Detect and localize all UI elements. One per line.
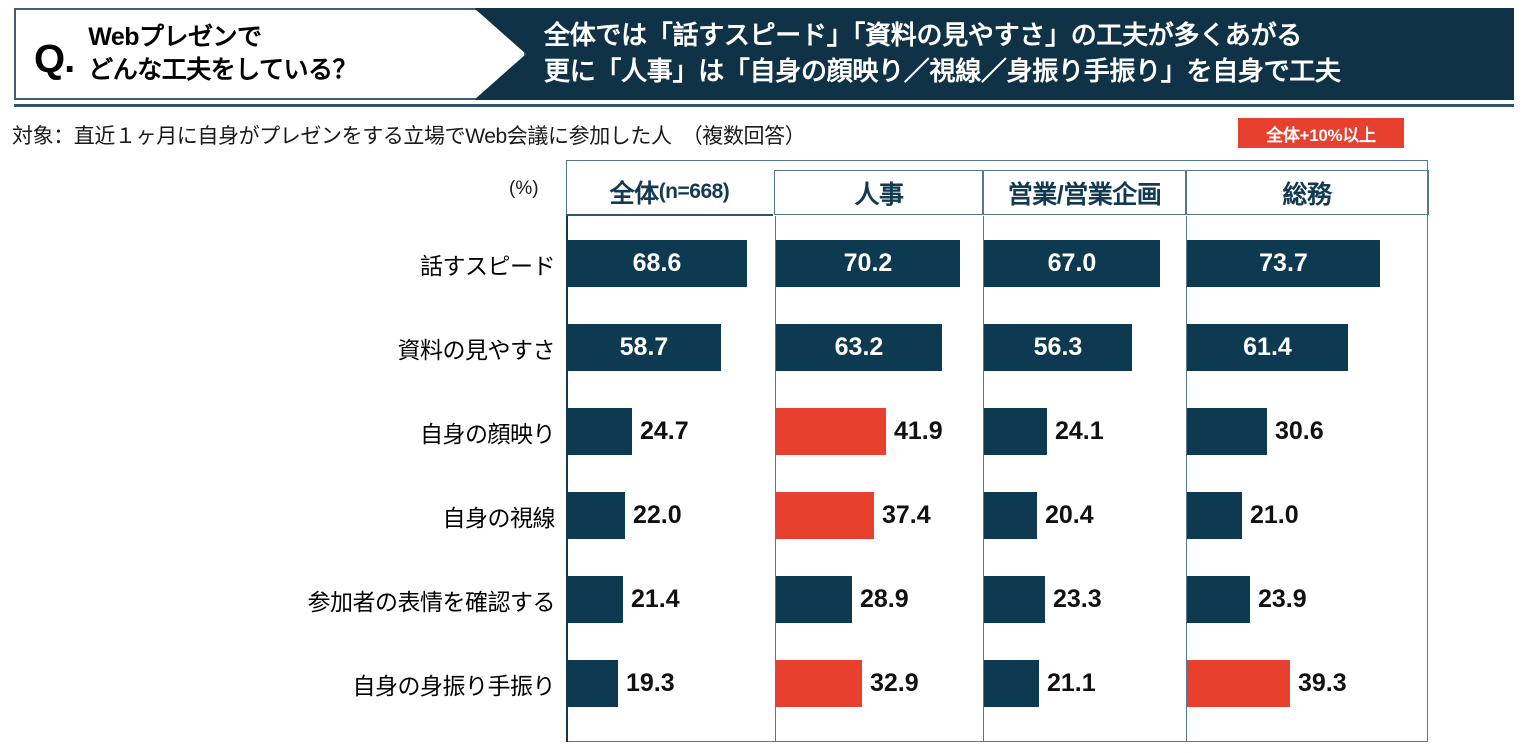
bar-value-1-1: 68.6	[567, 240, 747, 287]
category-label: 自身の視線	[443, 492, 556, 539]
bar-value-3-4: 20.4	[1045, 492, 1094, 539]
question-mark-label: Q.	[34, 39, 74, 79]
bar-chart: 全体 (n=668)人事営業/営業企画総務68.670.267.073.758.…	[566, 160, 1428, 742]
column-header-name: 全体	[610, 174, 659, 210]
bar-1-3	[567, 408, 632, 455]
column-header-1: 全体 (n=668)	[566, 168, 773, 215]
category-label: 資料の見やすさ	[398, 324, 556, 371]
header-banner: 全体では「話すスピード」「資料の見やすさ」の工夫が多くあがる 更に「人事」は「自…	[14, 8, 1514, 100]
bar-1-5	[567, 576, 623, 623]
bar-3-3	[984, 408, 1047, 455]
bar-value-3-5: 23.3	[1053, 576, 1102, 623]
survey-target-note: 対象：直近１ヶ月に自身がプレゼンをする立場でWeb会議に参加した人 （複数回答）	[12, 120, 805, 150]
bar-4-6	[1187, 660, 1290, 707]
question-line-2: どんな工夫をしている？	[88, 54, 357, 87]
bar-1-4	[567, 492, 625, 539]
bar-value-1-6: 19.3	[626, 660, 675, 707]
bar-4-5	[1187, 576, 1250, 623]
column-header-name: 総務	[1282, 175, 1331, 211]
legend-badge-highlight: 全体+10%以上	[1238, 118, 1404, 148]
column-header-3: 営業/営業企画	[982, 170, 1187, 215]
bar-value-2-3: 41.9	[894, 408, 943, 455]
bar-value-2-4: 37.4	[882, 492, 931, 539]
column-header-4: 総務	[1185, 170, 1429, 215]
bar-value-4-4: 21.0	[1250, 492, 1299, 539]
bar-value-1-5: 21.4	[631, 576, 680, 623]
bar-value-2-1: 70.2	[776, 240, 960, 287]
column-header-name: 営業/営業企画	[1008, 175, 1161, 211]
bar-value-3-1: 67.0	[984, 240, 1160, 287]
category-label: 自身の身振り手振り	[353, 660, 556, 707]
bar-value-3-3: 24.1	[1055, 408, 1104, 455]
header-divider	[14, 104, 1514, 107]
question-line-1: Webプレゼンで	[88, 21, 357, 54]
bar-value-4-5: 23.9	[1258, 576, 1307, 623]
category-label-column: 話すスピード資料の見やすさ自身の顔映り自身の視線参加者の表情を確認する自身の身振…	[0, 160, 556, 742]
category-label: 話すスピード	[420, 240, 555, 287]
bar-1-6	[567, 660, 618, 707]
overall-header-underline	[566, 214, 773, 216]
bar-2-5	[776, 576, 852, 623]
bar-value-4-1: 73.7	[1187, 240, 1380, 287]
bar-value-4-6: 39.3	[1298, 660, 1347, 707]
bar-4-4	[1187, 492, 1242, 539]
bar-3-5	[984, 576, 1045, 623]
bar-3-4	[984, 492, 1037, 539]
bar-value-1-2: 58.7	[567, 324, 721, 371]
bar-2-3	[776, 408, 886, 455]
bar-value-4-2: 61.4	[1187, 324, 1348, 371]
header-message-line1: 全体では「話すスピード」「資料の見やすさ」の工夫が多くあがる	[544, 18, 1504, 54]
bar-value-4-3: 30.6	[1275, 408, 1324, 455]
bar-2-6	[776, 660, 862, 707]
category-label: 参加者の表情を確認する	[308, 576, 556, 623]
category-label: 自身の顔映り	[420, 408, 555, 455]
column-header-name: 人事	[854, 175, 903, 211]
column-header-2: 人事	[774, 170, 984, 215]
bar-value-3-2: 56.3	[984, 324, 1132, 371]
bar-value-1-4: 22.0	[633, 492, 682, 539]
question-text: Webプレゼンで どんな工夫をしている？	[88, 21, 357, 87]
bar-value-3-6: 21.1	[1047, 660, 1096, 707]
question-chevron: Q. Webプレゼンで どんな工夫をしている？	[14, 8, 526, 100]
bar-2-4	[776, 492, 874, 539]
bar-4-3	[1187, 408, 1267, 455]
bar-value-2-5: 28.9	[860, 576, 909, 623]
bar-value-2-6: 32.9	[870, 660, 919, 707]
header-message: 全体では「話すスピード」「資料の見やすさ」の工夫が多くあがる 更に「人事」は「自…	[544, 8, 1504, 100]
bar-3-6	[984, 660, 1039, 707]
header-message-line2: 更に「人事」は「自身の顔映り／視線／身振り手振り」を自身で工夫	[544, 54, 1504, 90]
bar-value-1-3: 24.7	[640, 408, 689, 455]
bar-value-2-2: 63.2	[776, 324, 942, 371]
column-header-n: (n=668)	[659, 180, 730, 204]
